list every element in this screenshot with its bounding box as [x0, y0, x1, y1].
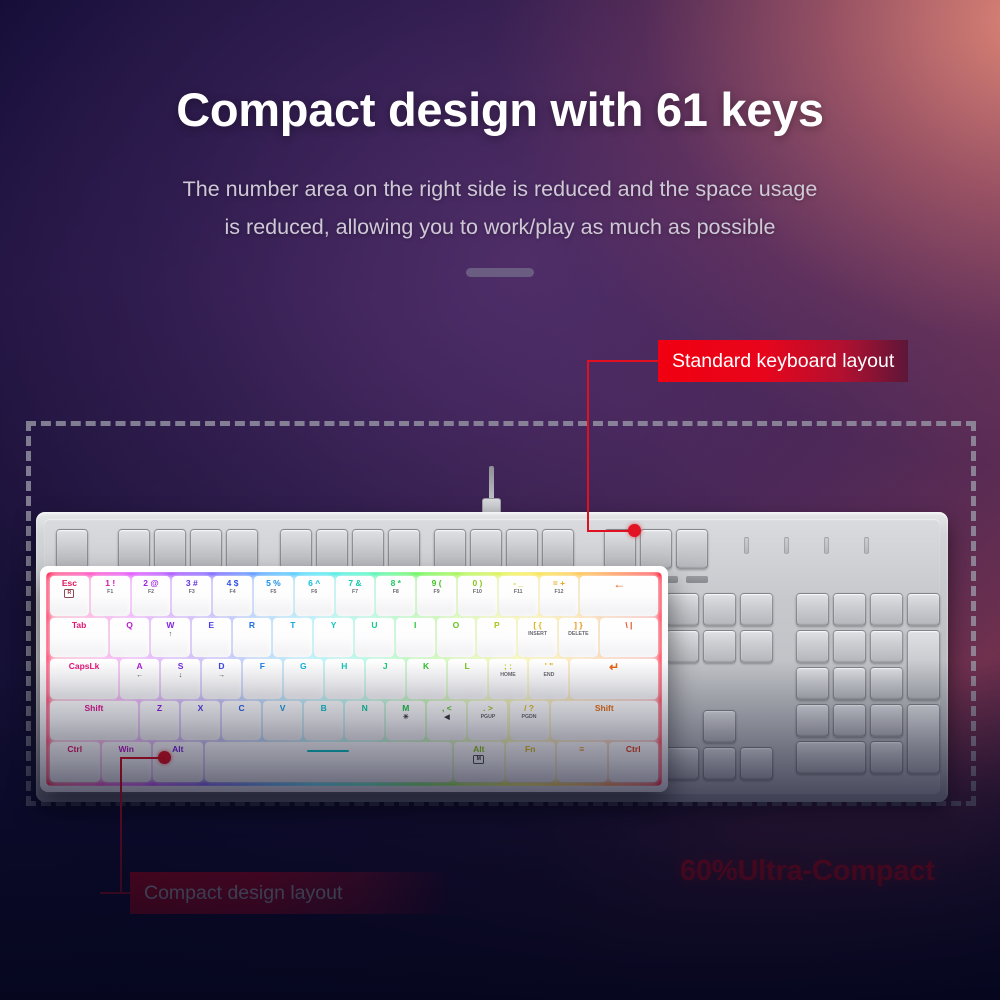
fullkb-numpad-numlock-row: [907, 593, 940, 626]
key-f[interactable]: F: [243, 659, 282, 699]
key-secondary-label: INSERT: [528, 631, 547, 638]
key-primary-label: M: [402, 703, 409, 713]
key-primary-label: . >: [483, 703, 493, 713]
key-backspace[interactable]: ←: [580, 576, 658, 616]
key-7[interactable]: 7 &F7: [336, 576, 375, 616]
divider-pill: [466, 268, 534, 277]
badge-standard-keyboard-layout[interactable]: Standard keyboard layout: [658, 340, 908, 382]
key-fn[interactable]: Fn: [506, 742, 556, 782]
key-v[interactable]: V: [263, 701, 302, 741]
key-g[interactable]: G: [284, 659, 323, 699]
key-primary-label: Win: [118, 744, 134, 754]
key-secondary-label: F10: [473, 589, 482, 596]
fullkb-status-led-3: [824, 537, 829, 554]
top-leader-line-horizontal: [587, 360, 659, 362]
fullkb-keycap-slot-22: [686, 576, 708, 583]
key-primary-label: C: [238, 703, 244, 713]
key-key[interactable]: ; :HOME: [489, 659, 528, 699]
fullkb-function-key-12: [506, 529, 538, 569]
fullkb-function-key-r3: [676, 529, 708, 569]
fullkb-function-key-13: [542, 529, 574, 569]
subtitle-line-2: is reduced, allowing you to work/play as…: [110, 208, 890, 246]
key-primary-label: U: [371, 620, 377, 630]
key-primary-label: Shift: [595, 703, 614, 713]
key-primary-label: Q: [126, 620, 133, 630]
key-ctrl-right[interactable]: Ctrl: [609, 742, 659, 782]
fullkb-status-led-4: [864, 537, 869, 554]
key-secondary-label: PGUP: [481, 714, 496, 721]
key-9[interactable]: 9 (F9: [417, 576, 456, 616]
key-primary-label: - _: [513, 578, 523, 588]
key-0[interactable]: 0 )F10: [458, 576, 497, 616]
key-primary-label: O: [453, 620, 460, 630]
key-secondary-label: ↑: [169, 631, 173, 638]
fullkb-nav-key-1-3: [740, 593, 773, 626]
key-primary-label: N: [362, 703, 368, 713]
key-primary-label: 2 @: [143, 578, 158, 588]
key-secondary-label: F12: [555, 589, 564, 596]
key-c[interactable]: C: [222, 701, 261, 741]
key-secondary-label: F3: [189, 589, 195, 596]
key-secondary-label: F4: [230, 589, 236, 596]
badge-compact-label: Compact design layout: [144, 882, 342, 905]
key-primary-label: 4 $: [227, 578, 239, 588]
key-8[interactable]: 8 *F8: [376, 576, 415, 616]
key-secondary-label: ↓: [179, 672, 183, 679]
key-primary-label: 0 ): [472, 578, 482, 588]
key-secondary-label: F5: [270, 589, 276, 596]
fullkb-numpad-key-4-3: [870, 704, 903, 737]
fullkb-numpad-zero: [796, 741, 866, 774]
fullkb-nav-key-1-2: [703, 593, 736, 626]
key-primary-label: Ctrl: [67, 744, 82, 754]
key-primary-label: ; :: [504, 661, 512, 671]
key-secondary-label: F9: [434, 589, 440, 596]
fullkb-arrow-down: [703, 747, 736, 780]
key-enter[interactable]: ↵: [570, 659, 658, 699]
key-primary-label: \ |: [625, 620, 632, 630]
key-secondary-label: F11: [514, 589, 523, 596]
bottom-leader-line-vertical: [120, 757, 122, 893]
fullkb-numpad-key-3-3: [870, 667, 903, 700]
key-primary-label: K: [423, 661, 429, 671]
key-primary-label: 7 &: [348, 578, 361, 588]
key-primary-label: CapsLk: [69, 661, 100, 671]
key-primary-label: ≡: [579, 744, 584, 754]
key-x[interactable]: X: [181, 701, 220, 741]
key-secondary-label: F8: [393, 589, 399, 596]
key-secondary-label: ☀: [403, 714, 409, 721]
subtitle-line-1: The number area on the right side is red…: [110, 170, 890, 208]
key-primary-label: R: [249, 620, 255, 630]
key-primary-label: Z: [157, 703, 162, 713]
key-primary-label: / ?: [524, 703, 534, 713]
key-primary-label: Shift: [85, 703, 104, 713]
key-secondary-label: →: [218, 672, 225, 679]
key-key[interactable]: [ {INSERT: [518, 618, 557, 658]
fullkb-numpad-key-4-1: [796, 704, 829, 737]
key-y[interactable]: Y: [314, 618, 353, 658]
key-primary-label: F: [260, 661, 265, 671]
key-primary-label: ] }: [574, 620, 583, 630]
fullkb-numpad-key-3-2: [833, 667, 866, 700]
fullkb-function-key-9: [388, 529, 420, 569]
key-secondary-label: DELETE: [568, 631, 588, 638]
fullkb-nav-key-2-3: [740, 630, 773, 663]
fullkb-nav-key-2-1: [666, 630, 699, 663]
key-primary-label: = +: [553, 578, 565, 588]
key-1[interactable]: 1 !F1: [91, 576, 130, 616]
product-marketing-image: Compact design with 61 keys The number a…: [0, 0, 1000, 1000]
key-2[interactable]: 2 @F2: [132, 576, 171, 616]
page-title: Compact design with 61 keys: [0, 82, 1000, 137]
fullkb-numpad-key-2-3: [870, 630, 903, 663]
key-key[interactable]: , <◀: [427, 701, 466, 741]
key-l[interactable]: L: [448, 659, 487, 699]
badge-compact-design-layout[interactable]: Compact design layout: [130, 872, 450, 914]
key-secondary-label: HOME: [500, 672, 516, 679]
fullkb-function-key-7: [316, 529, 348, 569]
key-j[interactable]: J: [366, 659, 405, 699]
key-primary-label: Y: [331, 620, 337, 630]
fullkb-function-key-11: [470, 529, 502, 569]
fullkb-status-led-2: [784, 537, 789, 554]
key-primary-label: B: [321, 703, 327, 713]
key-u[interactable]: U: [355, 618, 394, 658]
key-e[interactable]: E: [192, 618, 231, 658]
fullkb-arrow-left: [666, 747, 699, 780]
key-primary-label: Alt: [473, 744, 484, 754]
fullkb-function-key-5: [226, 529, 258, 569]
key-primary-label: ↵: [609, 661, 619, 673]
key-menu[interactable]: ≡: [557, 742, 607, 782]
compact-keyboard-plate: EscR1 !F12 @F23 #F34 $F45 %F56 ^F67 &F78…: [46, 572, 662, 786]
key-secondary-label: M: [473, 755, 484, 764]
key-primary-label: E: [208, 620, 214, 630]
key-key[interactable]: ' "END: [529, 659, 568, 699]
key-primary-label: Tab: [72, 620, 86, 630]
fullkb-function-key-3: [154, 529, 186, 569]
key-secondary-label: ←: [136, 672, 143, 679]
fullkb-arrow-right: [740, 747, 773, 780]
top-callout-dot: [628, 524, 641, 537]
key-primary-label: S: [178, 661, 184, 671]
key-secondary-label: F6: [311, 589, 317, 596]
fullkb-numpad-key-1-2: [833, 593, 866, 626]
key-r[interactable]: R: [233, 618, 272, 658]
fullkb-function-key-4: [190, 529, 222, 569]
key-alt[interactable]: AltM: [454, 742, 504, 782]
key-primary-label: 6 ^: [308, 578, 320, 588]
key-shift-right[interactable]: Shift: [551, 701, 658, 741]
bottom-leader-line-to-dot: [120, 757, 165, 759]
key-key[interactable]: - _F11: [499, 576, 538, 616]
key-primary-label: ←: [613, 578, 625, 590]
fullkb-numpad-key-1-3: [870, 593, 903, 626]
fullkb-numpad-key-1-1: [796, 593, 829, 626]
key-b[interactable]: B: [304, 701, 343, 741]
key-a[interactable]: A←: [120, 659, 159, 699]
fullkb-numpad-plus: [907, 630, 940, 700]
key-m[interactable]: M☀: [386, 701, 425, 741]
key-primary-label: W: [166, 620, 174, 630]
fullkb-function-key-10: [434, 529, 466, 569]
key-secondary-label: R: [64, 589, 74, 598]
key-3[interactable]: 3 #F3: [172, 576, 211, 616]
fullkb-function-key-8: [352, 529, 384, 569]
key-secondary-label: F2: [148, 589, 154, 596]
bottom-leader-line-horizontal: [100, 892, 134, 894]
key-shift[interactable]: Shift: [50, 701, 138, 741]
key-ctrl[interactable]: Ctrl: [50, 742, 100, 782]
key-tab[interactable]: Tab: [50, 618, 108, 658]
fullkb-numpad-dot: [870, 741, 903, 774]
page-subtitle: The number area on the right side is red…: [110, 170, 890, 246]
fullkb-function-key-6: [280, 529, 312, 569]
key-key[interactable]: = +F12: [540, 576, 579, 616]
key-t[interactable]: T: [273, 618, 312, 658]
fullkb-function-key-1: [56, 529, 88, 569]
key-s[interactable]: S↓: [161, 659, 200, 699]
fullkb-arrow-up: [703, 710, 736, 743]
fullkb-function-key-2: [118, 529, 150, 569]
compact-keyboard-keys: EscR1 !F12 @F23 #F34 $F45 %F56 ^F67 &F78…: [46, 572, 662, 786]
key-4[interactable]: 4 $F4: [213, 576, 252, 616]
fullkb-nav-key-1-1: [666, 593, 699, 626]
fullkb-numpad-key-4-2: [833, 704, 866, 737]
key-key[interactable]: / ?PGDN: [510, 701, 549, 741]
fullkb-function-key-r2: [640, 529, 672, 569]
key-key[interactable]: . >PGUP: [468, 701, 507, 741]
key-secondary-label: END: [543, 672, 554, 679]
key-primary-label: T: [290, 620, 295, 630]
key-primary-label: A: [137, 661, 143, 671]
key-primary-label: I: [414, 620, 416, 630]
fullkb-nav-key-2-2: [703, 630, 736, 663]
fullkb-numpad-enter: [907, 704, 940, 774]
key-win[interactable]: Win: [102, 742, 152, 782]
key-h[interactable]: H: [325, 659, 364, 699]
key-key[interactable]: ] }DELETE: [559, 618, 598, 658]
key-d[interactable]: D→: [202, 659, 241, 699]
key-secondary-label: F7: [352, 589, 358, 596]
key-w[interactable]: W↑: [151, 618, 190, 658]
top-leader-line-vertical: [587, 361, 589, 531]
key-primary-label: 3 #: [186, 578, 198, 588]
key-primary-label: 1 !: [105, 578, 115, 588]
key-k[interactable]: K: [407, 659, 446, 699]
key-primary-label: G: [300, 661, 307, 671]
key-primary-label: , <: [442, 703, 452, 713]
key-primary-label: Ctrl: [626, 744, 641, 754]
key-primary-label: H: [341, 661, 347, 671]
key-z[interactable]: Z: [140, 701, 179, 741]
key-esc[interactable]: EscR: [50, 576, 89, 616]
key-i[interactable]: I: [396, 618, 435, 658]
ultra-compact-label: 60%Ultra-Compact: [680, 855, 935, 888]
key-primary-label: ' ": [545, 661, 553, 671]
key-space[interactable]: [205, 742, 453, 782]
key-primary-label: P: [494, 620, 500, 630]
key-primary-label: 9 (: [432, 578, 442, 588]
key-primary-label: 5 %: [266, 578, 281, 588]
key-primary-label: [ {: [533, 620, 542, 630]
key-o[interactable]: O: [437, 618, 476, 658]
key-primary-label: J: [383, 661, 388, 671]
fullkb-numpad-key-3-1: [796, 667, 829, 700]
key-key[interactable]: \ |: [600, 618, 658, 658]
key-secondary-label: ◀: [444, 714, 449, 721]
key-5[interactable]: 5 %F5: [254, 576, 293, 616]
key-primary-label: Fn: [525, 744, 535, 754]
key-primary-label: Esc: [62, 578, 77, 588]
key-6[interactable]: 6 ^F6: [295, 576, 334, 616]
key-p[interactable]: P: [477, 618, 516, 658]
key-primary-label: Alt: [172, 744, 183, 754]
key-secondary-label: PGDN: [522, 714, 537, 721]
key-n[interactable]: N: [345, 701, 384, 741]
key-capslk[interactable]: CapsLk: [50, 659, 118, 699]
key-primary-label: D: [218, 661, 224, 671]
badge-standard-label: Standard keyboard layout: [672, 350, 894, 373]
key-primary-label: X: [198, 703, 204, 713]
key-primary-label: 8 *: [391, 578, 401, 588]
fullkb-numpad-key-2-1: [796, 630, 829, 663]
space-indicator-bar: [307, 750, 349, 752]
key-q[interactable]: Q: [110, 618, 149, 658]
key-secondary-label: F1: [107, 589, 113, 596]
key-primary-label: L: [464, 661, 469, 671]
key-primary-label: V: [280, 703, 286, 713]
fullkb-numpad-key-2-2: [833, 630, 866, 663]
fullkb-status-led-1: [744, 537, 749, 554]
